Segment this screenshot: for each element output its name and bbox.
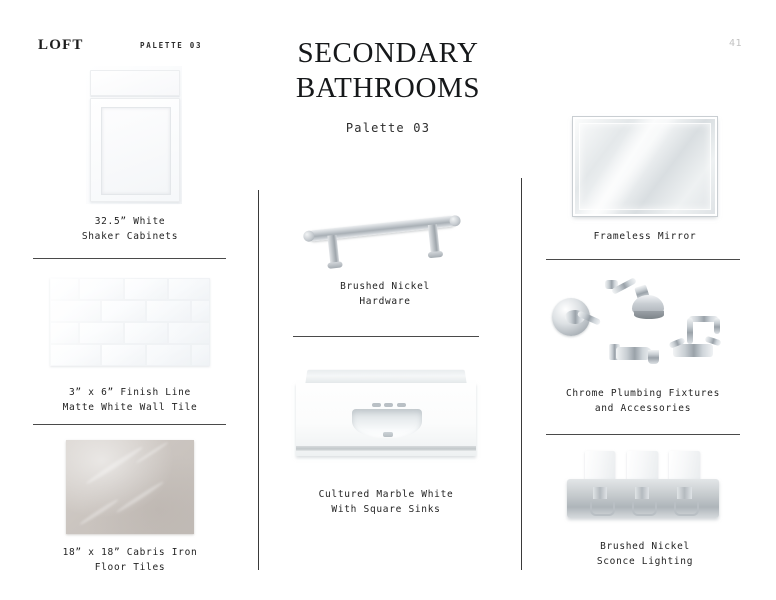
sink-drain [383,432,393,437]
product-image-shaker-cabinets [86,66,182,204]
light-neck-3 [677,487,692,499]
pull-foot-left [327,261,343,269]
vanity-light-bar-icon [562,448,724,526]
divider-right-1 [546,259,740,260]
light-neck-1 [593,487,608,499]
faucet-hole-left [372,403,381,407]
floor-tile-icon [66,440,194,534]
showerhead-face [634,311,664,319]
faucet-spout-drop [714,318,720,334]
product-image-vanity-top [296,362,476,466]
vanity-deck [296,383,476,456]
cabinet-drawer-front [90,70,180,95]
caption-floor-tile: 18” x 18” Cabris Iron Floor Tiles [30,545,230,575]
divider-left-2 [33,424,226,425]
caption-mirror: Frameless Mirror [555,229,735,244]
caption-wall-tile: 3” x 6” Finish Line Matte White Wall Til… [30,385,230,415]
product-image-floor-tile [66,440,194,534]
faucet-deck-plate [673,344,713,357]
column-divider-right [521,178,522,570]
caption-plumbing-fixtures: Chrome Plumbing Fixtures and Accessories [545,386,741,416]
vanity-top-sink-icon [296,362,476,466]
faucet-hole-right [397,403,406,407]
divider-left-1 [33,258,226,259]
light-arm-3 [674,502,699,516]
light-neck-2 [635,487,650,499]
caption-vanity-top: Cultured Marble White With Square Sinks [296,487,476,517]
tub-spout-outlet [648,350,659,364]
light-arm-1 [590,502,615,516]
cabinet-door-recess [101,107,172,195]
product-image-mirror [573,117,717,216]
frameless-mirror-icon [573,117,717,216]
faucet-spout-riser [687,318,693,344]
palette-board: LOFT PALETTE 03 41 SECONDARY BATHROOMS P… [0,0,776,600]
product-image-sconce-lighting [562,448,724,526]
cabinet-door-panel [90,98,180,202]
caption-sconce-lighting: Brushed Nickel Sconce Lighting [558,539,732,569]
pull-foot-right [428,251,444,259]
product-image-plumbing-fixtures [540,270,736,370]
column-divider-left [258,190,259,570]
mirror-reflection [575,119,715,214]
caption-cabinet-hardware: Brushed Nickel Hardware [300,279,470,309]
cabinet-door-icon [86,66,182,204]
product-image-cabinet-hardware [298,198,466,260]
caption-shaker-cabinets: 32.5” White Shaker Cabinets [30,214,230,244]
divider-right-2 [546,434,740,435]
product-image-wall-tile [50,278,210,366]
subway-tile-icon [50,278,210,366]
bar-pull-handle-icon [298,198,466,260]
pull-end-cap-right [449,215,461,227]
divider-center-1 [293,336,479,337]
faucet-hole-center [384,403,393,407]
vanity-front-edge [296,446,476,451]
light-arm-2 [632,502,657,516]
